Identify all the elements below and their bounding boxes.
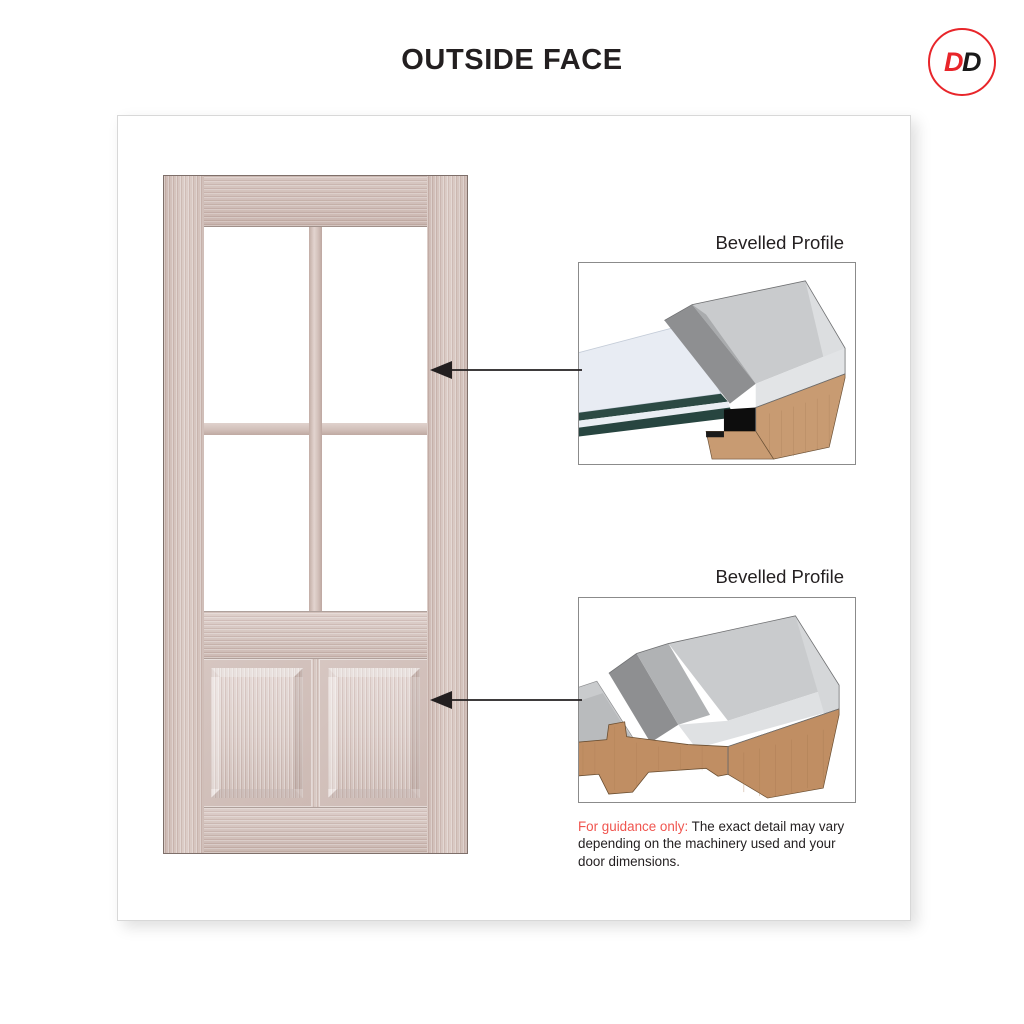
panel-moulding-illustration bbox=[579, 598, 855, 802]
door-glazing-area bbox=[202, 227, 429, 611]
door-left-stile bbox=[164, 176, 204, 853]
dd-logo-text: DD bbox=[944, 49, 980, 76]
door-panel-right bbox=[319, 659, 429, 807]
door-panel-left bbox=[202, 659, 312, 807]
callout-arrow-glazing bbox=[430, 356, 582, 384]
page-title: OUTSIDE FACE bbox=[0, 44, 1024, 77]
callout-arrow-panel bbox=[430, 686, 582, 714]
door-spec-diagram: OUTSIDE FACE DD Bevelled Profile bbox=[0, 0, 1024, 1024]
door-bottom-rail bbox=[202, 807, 429, 853]
guidance-highlight: For guidance only: bbox=[578, 819, 688, 834]
door-panel-right-bevel bbox=[328, 668, 420, 798]
dd-logo: DD bbox=[928, 28, 996, 96]
door-right-stile bbox=[427, 176, 467, 853]
glazing-bead-illustration bbox=[579, 263, 855, 464]
detail-box-panel-moulding bbox=[578, 597, 856, 803]
door-mid-rail bbox=[202, 611, 429, 659]
door-top-rail bbox=[202, 176, 429, 227]
dd-logo-letter-second: D bbox=[962, 47, 980, 77]
door-preview bbox=[163, 175, 468, 854]
door-lower-panels bbox=[202, 659, 429, 807]
detail-label-panel-moulding: Bevelled Profile bbox=[620, 566, 844, 588]
dd-logo-letter-first: D bbox=[944, 47, 962, 77]
glazing-bar-vertical bbox=[309, 227, 322, 611]
door-panel-left-bevel bbox=[211, 668, 303, 798]
guidance-note: For guidance only: The exact detail may … bbox=[578, 818, 860, 870]
detail-label-glazing-bead: Bevelled Profile bbox=[620, 232, 844, 254]
detail-box-glazing-bead bbox=[578, 262, 856, 465]
